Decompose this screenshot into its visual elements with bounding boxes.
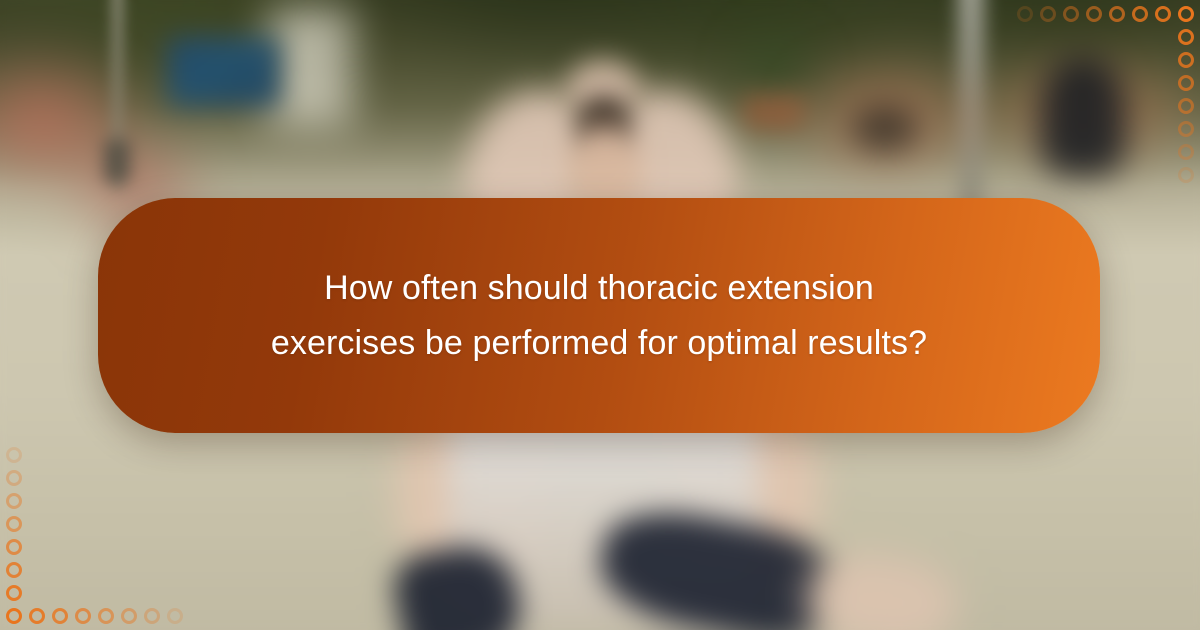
background-pale-wall bbox=[268, 8, 352, 128]
question-text: How often should thoracic extension exer… bbox=[249, 261, 949, 371]
background-dark-blob bbox=[852, 104, 918, 152]
background-seated-figure bbox=[1040, 56, 1126, 176]
background-blue-sign bbox=[168, 38, 280, 106]
quote-card-canvas: How often should thoracic extension exer… bbox=[0, 0, 1200, 630]
question-card: How often should thoracic extension exer… bbox=[98, 198, 1100, 433]
background-pole-left-base bbox=[104, 140, 130, 182]
